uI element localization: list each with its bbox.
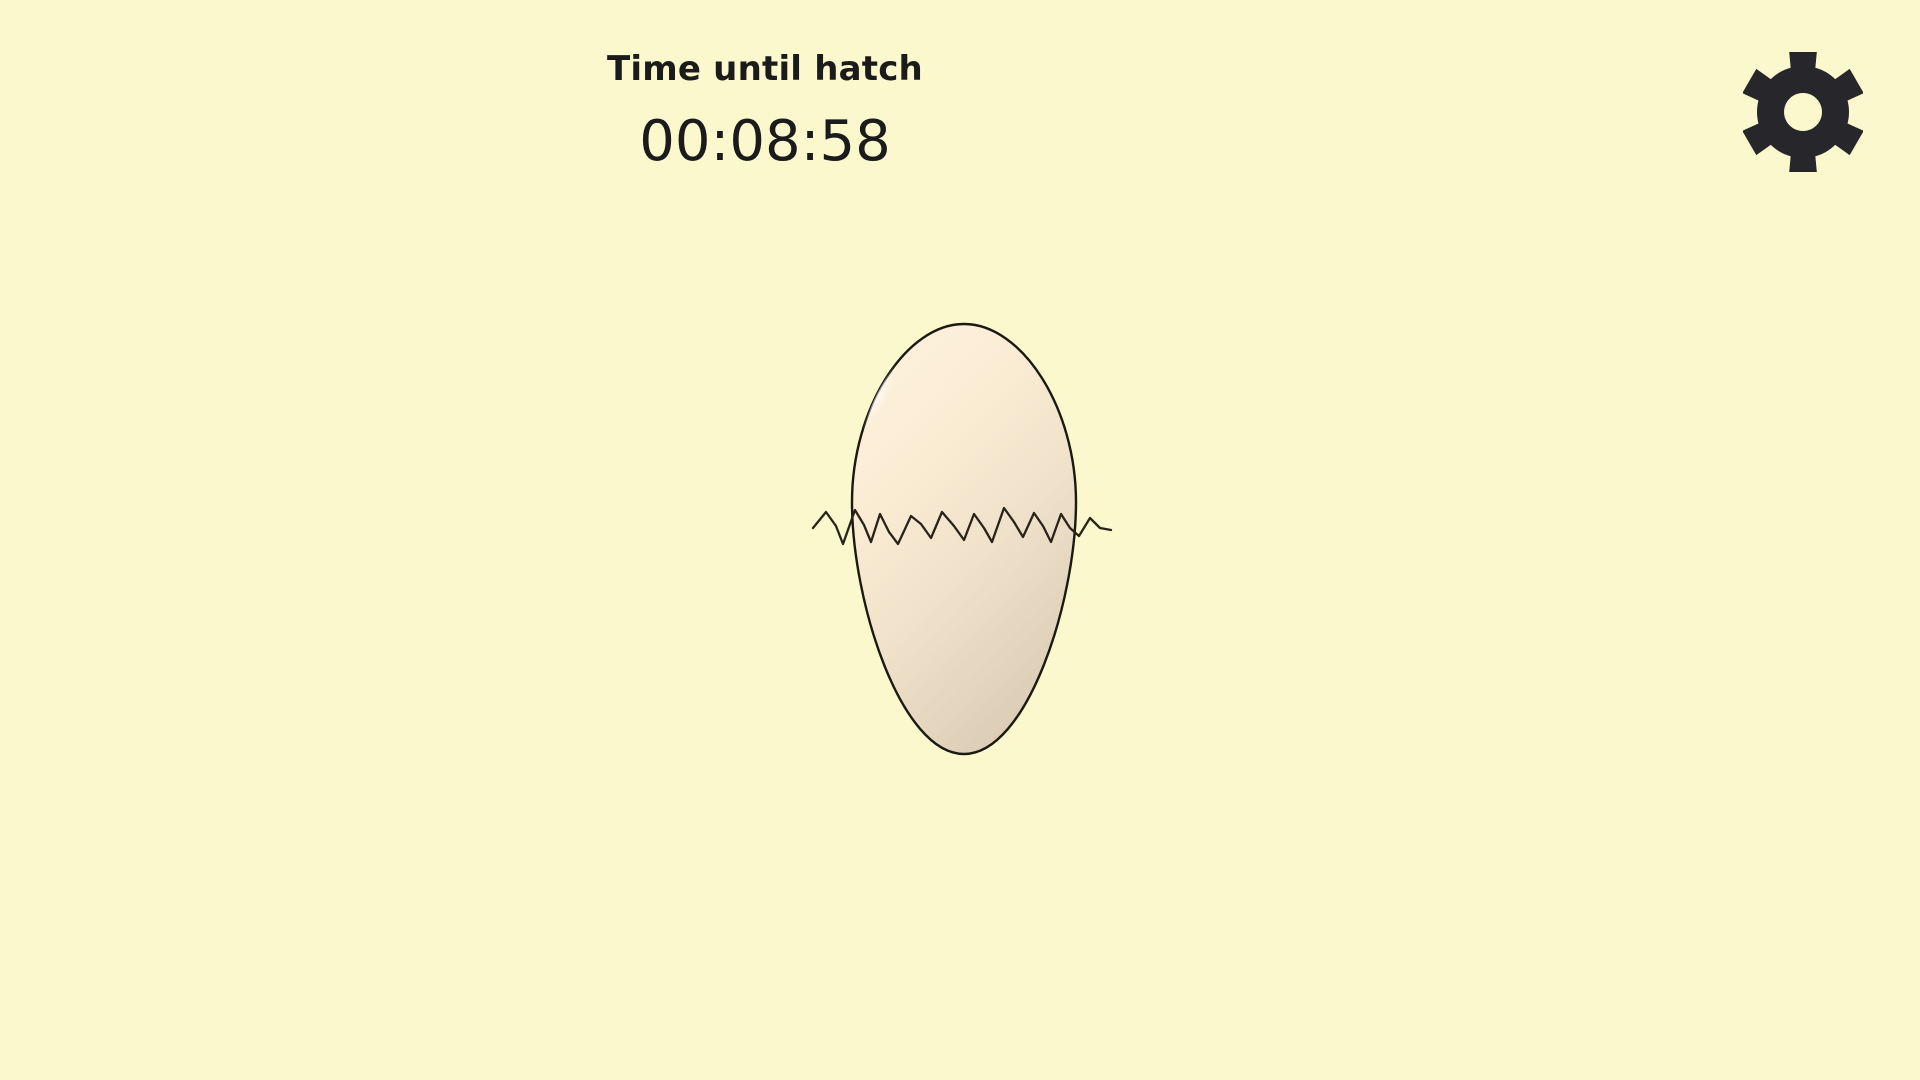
hatch-timer-block: Time until hatch 00:08:58 (0, 0, 1530, 170)
gear-icon (1743, 52, 1863, 172)
app-root: Time until hatch 00:08:58 (0, 0, 1920, 1080)
countdown-value: 00:08:58 (0, 86, 1530, 170)
settings-button[interactable] (1743, 52, 1863, 172)
egg-illustration[interactable] (808, 316, 1120, 762)
timer-label: Time until hatch (0, 52, 1530, 86)
